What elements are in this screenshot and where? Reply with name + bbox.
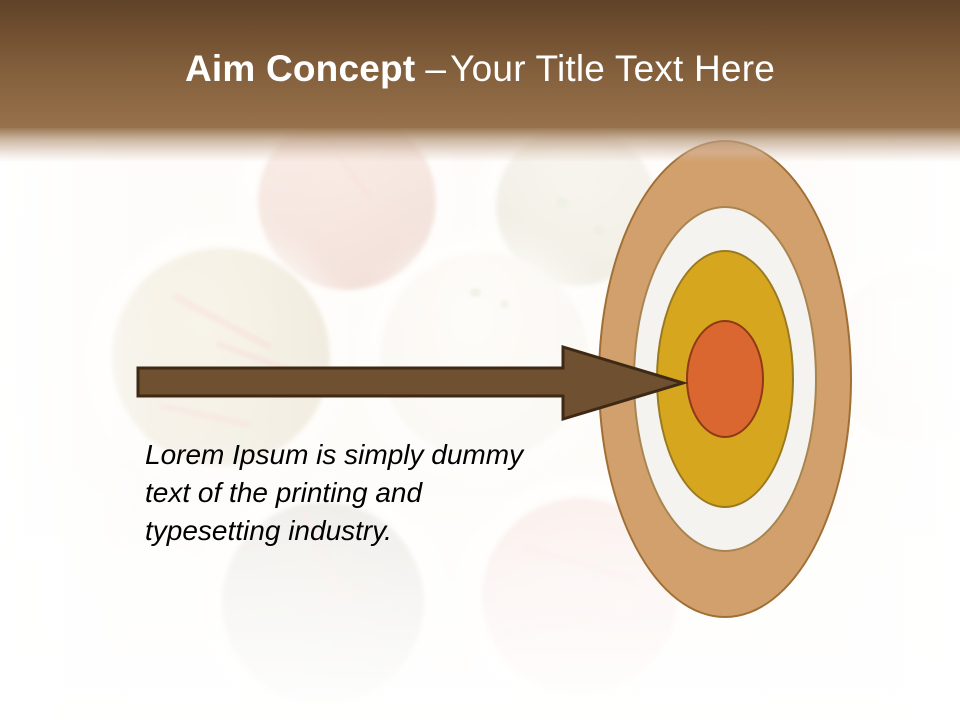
title-subtitle: Your Title Text Here [450,48,775,89]
title-main: Aim Concept [185,48,415,89]
body-paragraph: Lorem Ipsum is simply dummy text of the … [145,436,545,550]
slide-canvas: Aim Concept–Your Title Text Here Lorem I… [0,0,960,720]
aim-arrow[interactable] [130,340,692,426]
target-bullseye [686,320,764,438]
title-bar-fade [0,128,960,162]
arrow-shape [138,347,683,419]
page-title: Aim Concept–Your Title Text Here [0,47,960,91]
title-separator: – [415,48,450,89]
